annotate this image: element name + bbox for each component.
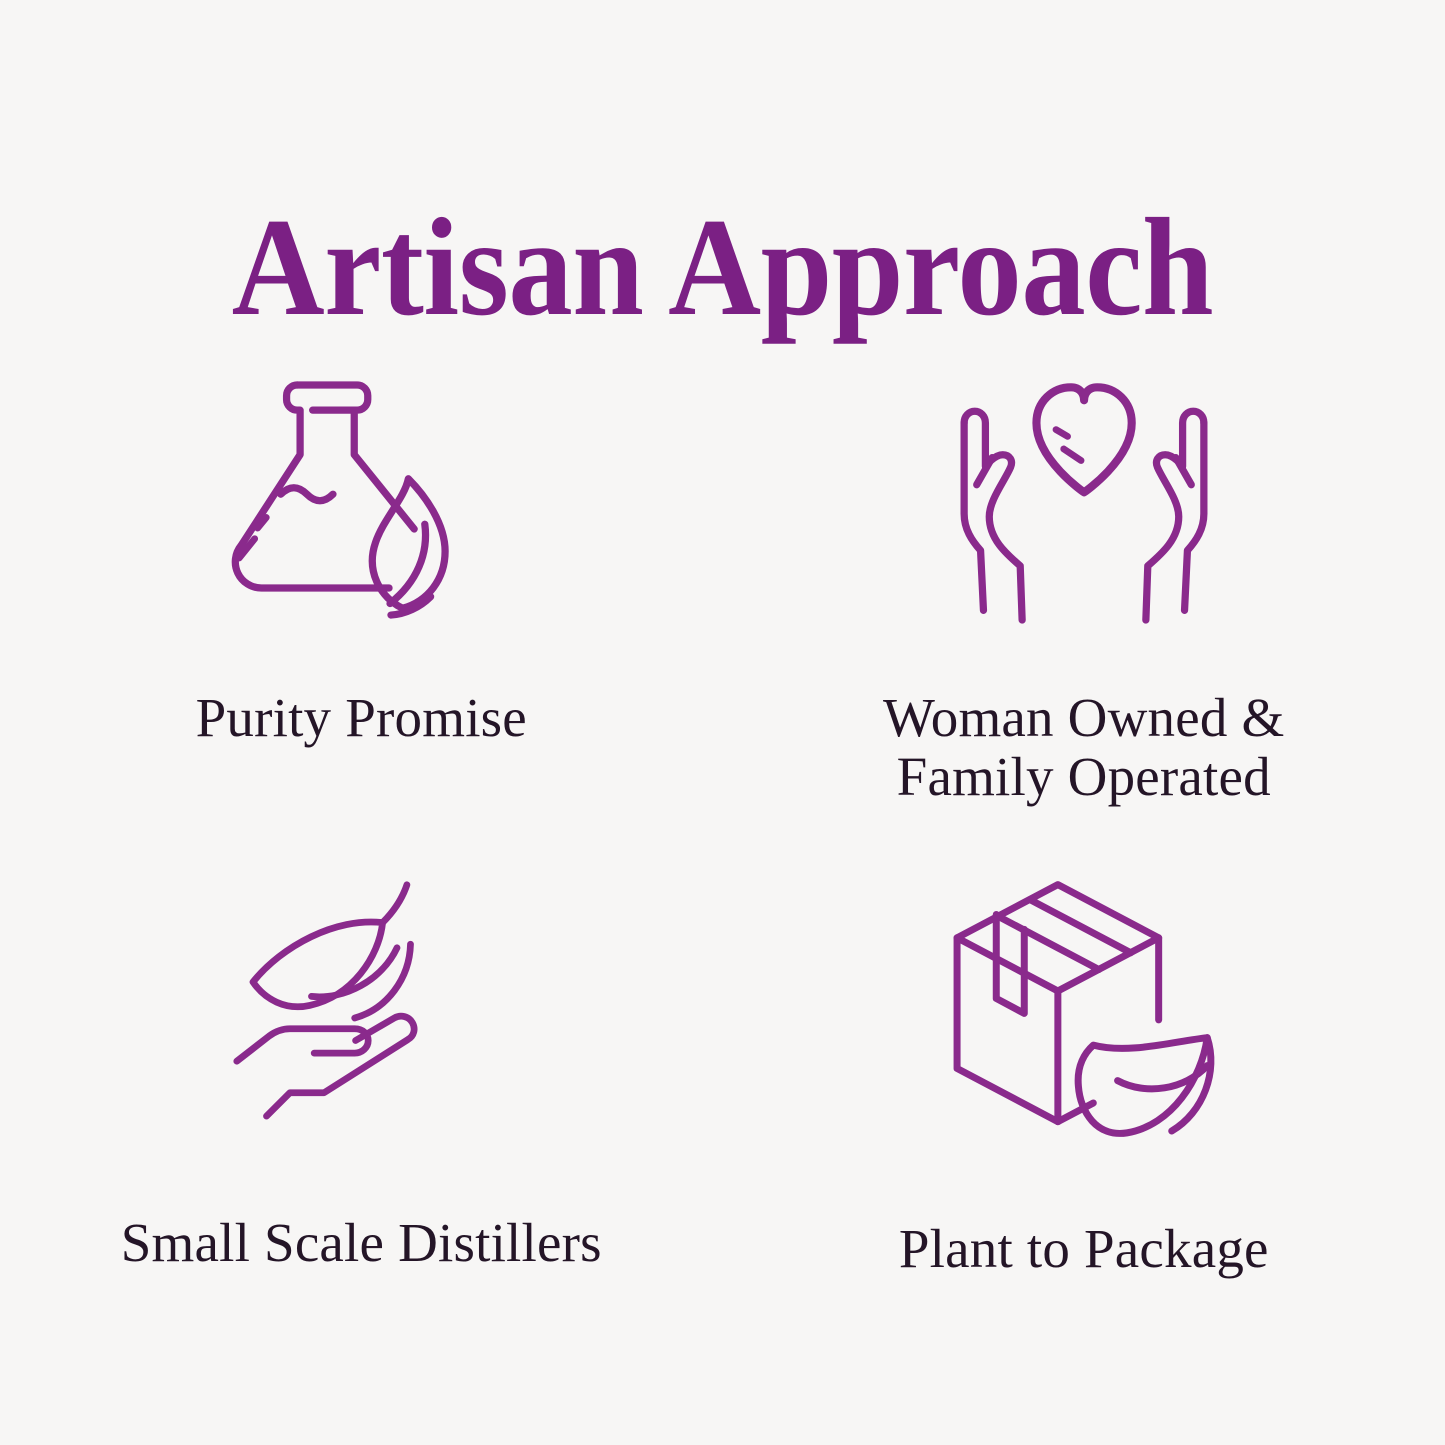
feature-label: Woman Owned & Family Operated <box>883 688 1284 807</box>
hands-holding-heart-icon <box>934 360 1234 650</box>
feature-grid: Purity Promise <box>0 330 1445 1380</box>
hand-holding-leaf-icon <box>211 883 511 1153</box>
feature-label: Plant to Package <box>899 1219 1269 1278</box>
feature-plant-to-package: Plant to Package <box>723 855 1445 1380</box>
feature-label: Small Scale Distillers <box>121 1213 602 1272</box>
feature-purity-promise: Purity Promise <box>0 330 723 855</box>
feature-small-scale-distillers: Small Scale Distillers <box>0 855 723 1380</box>
feature-woman-owned-family-operated: Woman Owned & Family Operated <box>723 330 1445 855</box>
flask-leaf-icon <box>211 356 511 646</box>
box-leaf-icon <box>934 879 1234 1159</box>
page-title: Artisan Approach <box>232 198 1213 338</box>
artisan-approach-panel: Artisan Approach <box>0 0 1445 1445</box>
feature-label: Purity Promise <box>196 688 527 747</box>
